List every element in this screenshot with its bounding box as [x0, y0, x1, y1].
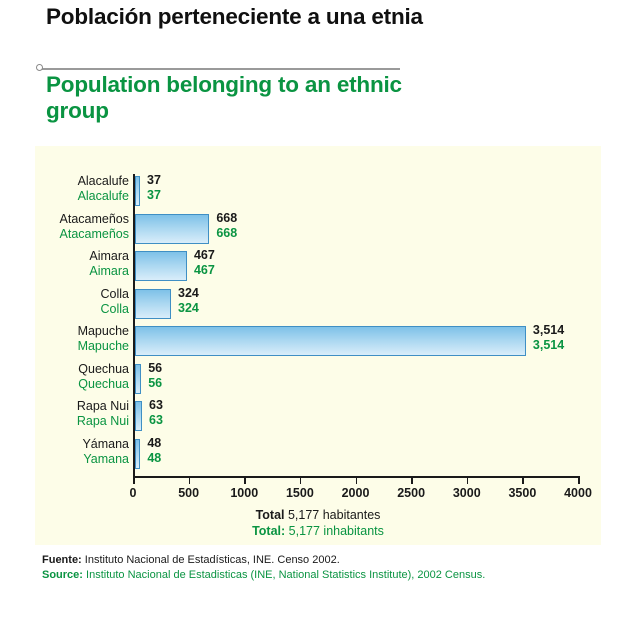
x-axis-tick: [189, 476, 191, 484]
bar-row: QuechuaQuechua5656: [35, 362, 601, 399]
bar-value-english: 48: [147, 451, 161, 465]
category-label-spanish: Alacalufe: [78, 174, 129, 188]
x-axis-tick-label: 4000: [564, 486, 592, 500]
total-spanish: Total 5,177 habitantes: [35, 508, 601, 522]
bar[interactable]: [135, 289, 171, 319]
category-label-spanish: Quechua: [78, 362, 129, 376]
bar[interactable]: [135, 364, 141, 394]
x-axis-tick-label: 1000: [230, 486, 258, 500]
title-divider: [42, 68, 400, 70]
category-label-spanish: Mapuche: [78, 324, 129, 338]
bar-value-spanish: 37: [147, 173, 161, 187]
bar-value-spanish: 63: [149, 398, 163, 412]
bar-row: YámanaYamana4848: [35, 437, 601, 474]
bar[interactable]: [135, 251, 187, 281]
bar-value-english: 37: [147, 188, 161, 202]
category-label-english: Mapuche: [78, 339, 129, 353]
category-label-spanish: Rapa Nui: [77, 399, 129, 413]
bar-value-spanish: 467: [194, 248, 215, 262]
source-label-english: Source:: [42, 569, 83, 581]
bar[interactable]: [135, 326, 526, 356]
bar-row: MapucheMapuche3,5143,514: [35, 324, 601, 361]
bar-value-spanish: 48: [147, 436, 161, 450]
source-text-english: Instituto Nacional de Estadisticas (INE,…: [83, 569, 485, 581]
x-axis-tick: [244, 476, 246, 484]
bar[interactable]: [135, 214, 209, 244]
bar-value-spanish: 56: [148, 361, 162, 375]
source-text-spanish: Instituto Nacional de Estadísticas, INE.…: [82, 554, 340, 566]
bar[interactable]: [135, 176, 140, 206]
bar-value-english: 3,514: [533, 338, 564, 352]
bar-value-english: 63: [149, 413, 163, 427]
category-label-english: Rapa Nui: [77, 414, 129, 428]
bar-value-spanish: 324: [178, 286, 199, 300]
bar-row: CollaColla324324: [35, 287, 601, 324]
x-axis-tick: [467, 476, 469, 484]
bar-row: AimaraAimara467467: [35, 249, 601, 286]
source-english: Source: Instituto Nacional de Estadistic…: [42, 568, 602, 583]
x-axis-tick: [578, 476, 580, 484]
bar-row: AtacameñosAtacameños668668: [35, 212, 601, 249]
total-english: Total: 5,177 inhabitants: [35, 524, 601, 538]
total-value-spanish: 5,177 habitantes: [285, 508, 381, 522]
source-spanish: Fuente: Instituto Nacional de Estadístic…: [42, 553, 602, 568]
category-label-english: Alacalufe: [78, 189, 129, 203]
category-label-spanish: Aimara: [89, 249, 129, 263]
page-title-english: Population belonging to an ethnic group: [46, 72, 446, 124]
x-axis-tick-label: 500: [178, 486, 199, 500]
x-axis-tick: [411, 476, 413, 484]
bar-value-spanish: 3,514: [533, 323, 564, 337]
x-axis-tick: [300, 476, 302, 484]
category-label-english: Colla: [101, 302, 130, 316]
x-axis-tick-label: 3000: [453, 486, 481, 500]
total-label-spanish: Total: [256, 508, 285, 522]
category-label-spanish: Atacameños: [60, 212, 129, 226]
x-axis-tick-label: 2000: [342, 486, 370, 500]
category-label-english: Aimara: [89, 264, 129, 278]
category-label-english: Yamana: [83, 452, 129, 466]
category-label-spanish: Colla: [101, 287, 130, 301]
category-label-english: Atacameños: [60, 227, 129, 241]
bar-value-english: 324: [178, 301, 199, 315]
x-axis-tick: [133, 476, 135, 484]
bar[interactable]: [135, 401, 142, 431]
total-label-english: Total:: [252, 524, 285, 538]
bar-value-english: 56: [148, 376, 162, 390]
x-axis-tick-label: 3500: [508, 486, 536, 500]
footer: Fuente: Instituto Nacional de Estadístic…: [42, 553, 602, 583]
bar[interactable]: [135, 439, 140, 469]
bar-row: Rapa NuiRapa Nui6363: [35, 399, 601, 436]
x-axis-tick-label: 0: [130, 486, 137, 500]
bar-value-english: 467: [194, 263, 215, 277]
chart-panel: 05001000150020002500300035004000 Alacalu…: [35, 146, 601, 545]
x-axis-tick: [522, 476, 524, 484]
bar-row: AlacalufeAlacalufe3737: [35, 174, 601, 211]
page-title-spanish: Población perteneciente a una etnia: [46, 4, 426, 30]
total-value-english: 5,177 inhabitants: [285, 524, 384, 538]
bullet-marker-icon: [36, 64, 43, 71]
x-axis-tick: [356, 476, 358, 484]
category-label-english: Quechua: [78, 377, 129, 391]
source-label-spanish: Fuente:: [42, 554, 82, 566]
x-axis-tick-label: 2500: [397, 486, 425, 500]
bar-value-english: 668: [216, 226, 237, 240]
category-label-spanish: Yámana: [82, 437, 129, 451]
bar-value-spanish: 668: [216, 211, 237, 225]
x-axis-tick-label: 1500: [286, 486, 314, 500]
